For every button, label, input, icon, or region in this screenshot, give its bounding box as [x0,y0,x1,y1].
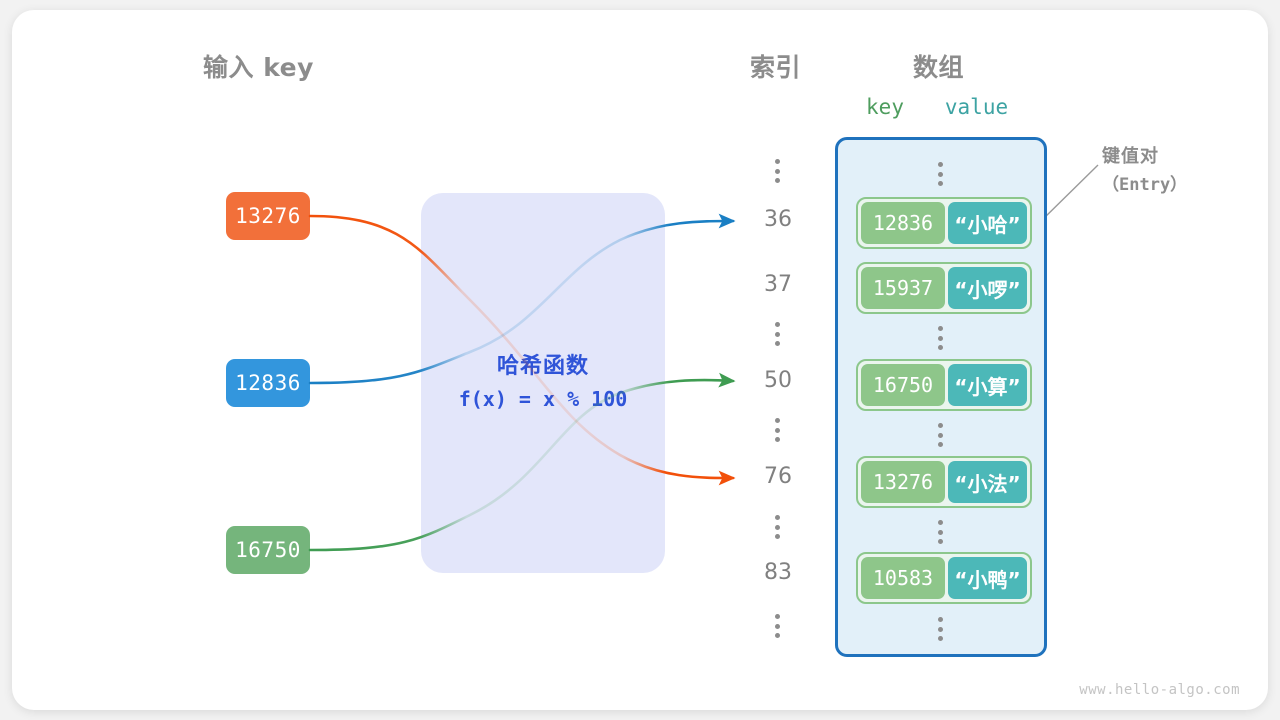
index-ellipsis-2 [775,322,781,346]
array-ellipsis-2 [938,326,944,350]
column-header-key: key [855,95,915,119]
entry-value: “小啰” [948,267,1027,309]
entry-value: “小鸭” [948,557,1027,599]
header-array: 数组 [913,48,964,84]
entry-value: “小哈” [948,202,1027,244]
entry-row-15937[interactable]: 15937 “小啰” [856,262,1032,314]
entry-row-16750[interactable]: 16750 “小算” [856,359,1032,411]
index-value-36: 36 [748,207,808,232]
hash-function-title: 哈希函数 [421,348,665,380]
watermark: www.hello-algo.com [1079,682,1240,698]
hash-function-formula: f(x) = x % 100 [421,387,665,411]
entry-key: 16750 [861,364,945,406]
column-header-value: value [929,95,1024,119]
array-container: 12836 “小哈” 15937 “小啰” 16750 “小算” 13276 “… [835,137,1047,657]
input-key-box-13276[interactable]: 13276 [226,192,310,240]
entry-annotation: 键值对 （Entry） [1102,142,1252,200]
header-index: 索引 [750,48,801,84]
index-ellipsis-top [775,159,781,183]
entry-key: 10583 [861,557,945,599]
array-ellipsis-top [938,162,944,186]
entry-row-12836[interactable]: 12836 “小哈” [856,197,1032,249]
array-ellipsis-bottom [938,617,944,641]
index-ellipsis-4 [775,515,781,539]
entry-key: 15937 [861,267,945,309]
index-ellipsis-3 [775,418,781,442]
array-ellipsis-3 [938,423,944,447]
index-ellipsis-bottom [775,614,781,638]
entry-row-10583[interactable]: 10583 “小鸭” [856,552,1032,604]
entry-key: 13276 [861,461,945,503]
entry-key: 12836 [861,202,945,244]
entry-value: “小算” [948,364,1027,406]
header-input-key: 输入 key [203,48,314,84]
entry-annotation-line2: （Entry） [1102,171,1252,200]
index-value-76: 76 [748,464,808,489]
array-ellipsis-4 [938,520,944,544]
entry-value: “小法” [948,461,1027,503]
index-value-37: 37 [748,272,808,297]
input-key-box-12836[interactable]: 12836 [226,359,310,407]
entry-row-13276[interactable]: 13276 “小法” [856,456,1032,508]
input-key-box-16750[interactable]: 16750 [226,526,310,574]
array-column-headers: key value [855,95,1035,119]
diagram-canvas: 输入 key 索引 数组 key value 13276 12836 16750… [0,0,1280,720]
hash-function-box: 哈希函数 f(x) = x % 100 [421,193,665,573]
index-value-50: 50 [748,368,808,393]
entry-annotation-line1: 键值对 [1102,142,1252,171]
index-value-83: 83 [748,560,808,585]
